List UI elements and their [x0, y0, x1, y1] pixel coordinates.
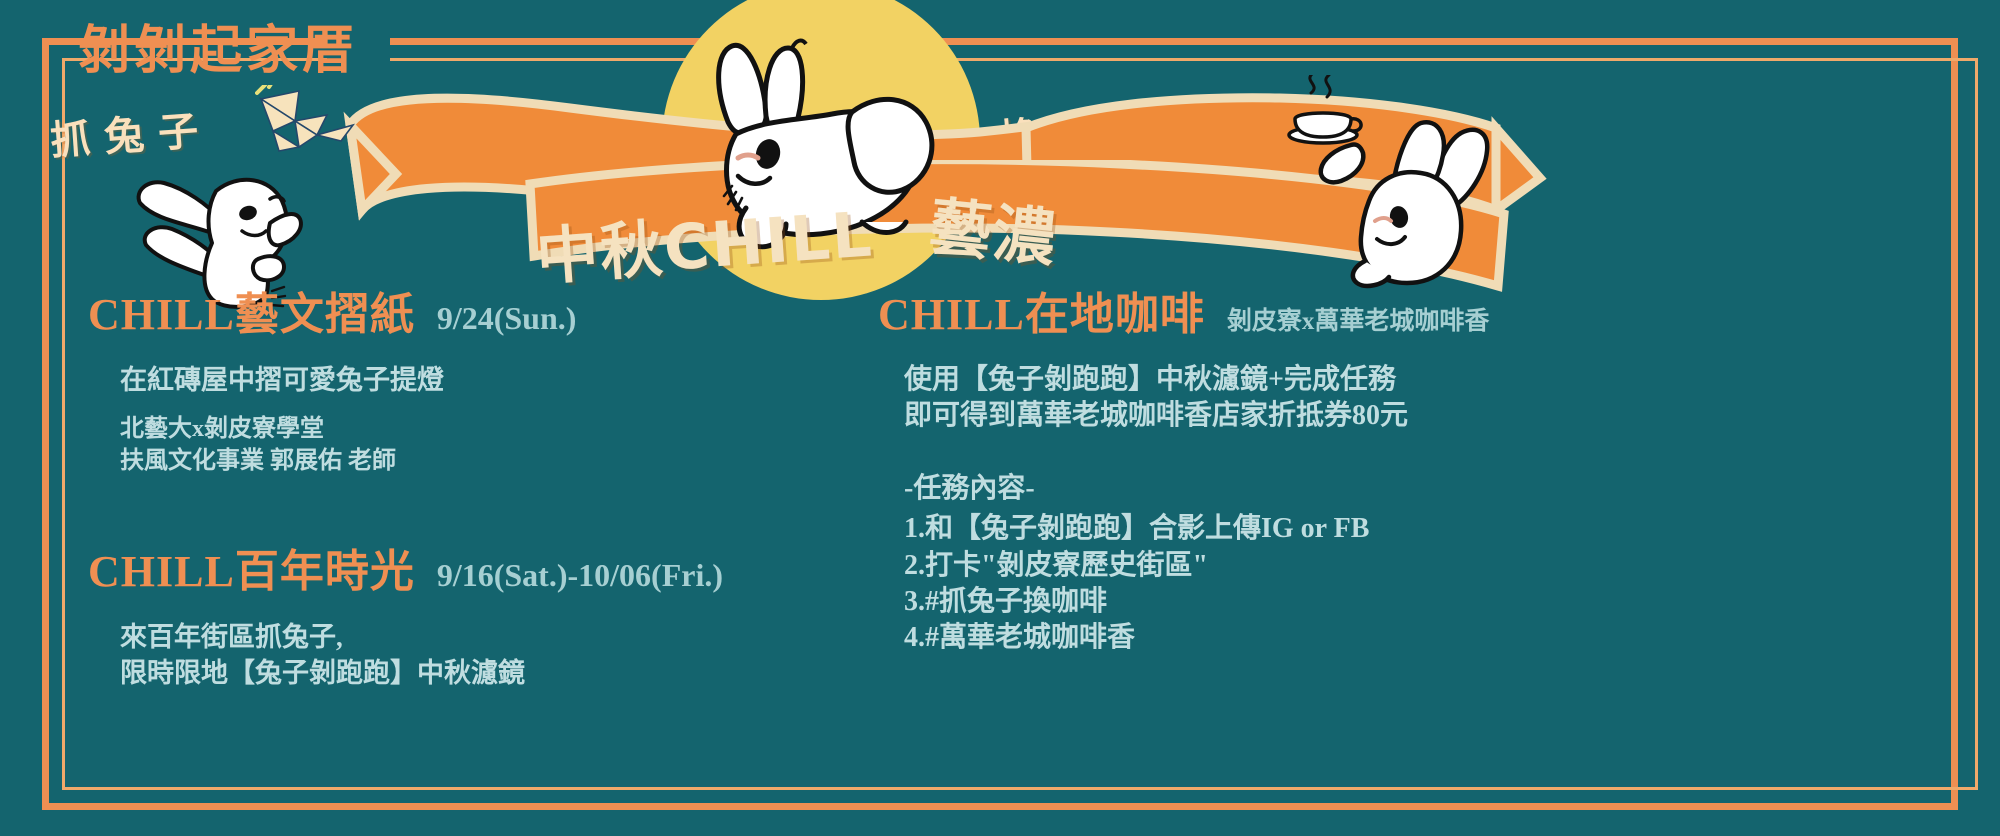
steam-icon — [1310, 75, 1330, 97]
section-heading-artpaper: CHILL藝文摺紙 9/24(Sun.) — [88, 278, 868, 342]
section-heading-centurytime: CHILL百年時光 9/16(Sat.)-10/06(Fri.) — [88, 535, 868, 599]
section-description-artpaper: 在紅磚屋中摺可愛兔子提燈 — [120, 362, 868, 398]
section-heading-localcoffee: CHILL在地咖啡 剝皮寮x萬華老城咖啡香 — [878, 278, 1678, 342]
ribbon-center-en: CHILL — [662, 197, 876, 284]
column-spacer — [88, 477, 868, 535]
poster-canvas: 剝剝起家厝 — [0, 0, 2000, 836]
rabbit-icon — [1265, 75, 1495, 305]
section-description-localcoffee: 使用【兔子剝跑跑】中秋濾鏡+完成任務 即可得到萬華老城咖啡香店家折抵券80元 — [904, 362, 1678, 435]
section-credits-artpaper: 北藝大x剝皮寮學堂 扶風文化事業 郭展佑 老師 — [120, 414, 868, 476]
decorative-frame-inner-top-right — [390, 58, 1978, 61]
section-date-artpaper: 9/24(Sun.) — [437, 300, 577, 337]
decorative-frame-outer-top-right — [390, 38, 1958, 45]
left-content-column: CHILL藝文摺紙 9/24(Sun.) 在紅磚屋中摺可愛兔子提燈 北藝大x剝皮… — [88, 278, 868, 692]
decorative-frame-outer-right — [1951, 38, 1958, 810]
decorative-frame-inner-right — [1975, 58, 1978, 790]
section-title-artpaper: CHILL藝文摺紙 — [88, 278, 415, 342]
section-description-centurytime: 來百年街區抓兔子, 限時限地【兔子剝跑跑】中秋濾鏡 — [120, 619, 868, 692]
coffee-cup-icon — [1289, 113, 1361, 143]
page-title: 剝剝起家厝 — [78, 8, 358, 83]
right-content-column: CHILL在地咖啡 剝皮寮x萬華老城咖啡香 使用【兔子剝跑跑】中秋濾鏡+完成任務… — [878, 278, 1678, 657]
section-date-centurytime: 9/16(Sat.)-10/06(Fri.) — [437, 557, 723, 594]
task-list-localcoffee: 1.和【兔子剝跑跑】合影上傳IG or FB 2.打卡"剝皮寮歷史街區" 3.#… — [904, 511, 1678, 657]
ribbon-center-title-2: 藝濃 — [926, 176, 1063, 279]
column-spacer — [878, 435, 1678, 471]
task-heading-localcoffee: -任務內容- — [904, 471, 1678, 507]
section-title-localcoffee: CHILL在地咖啡 — [878, 278, 1205, 342]
section-subtitle-localcoffee: 剝皮寮x萬華老城咖啡香 — [1227, 301, 1490, 337]
section-title-centurytime: CHILL百年時光 — [88, 535, 415, 599]
